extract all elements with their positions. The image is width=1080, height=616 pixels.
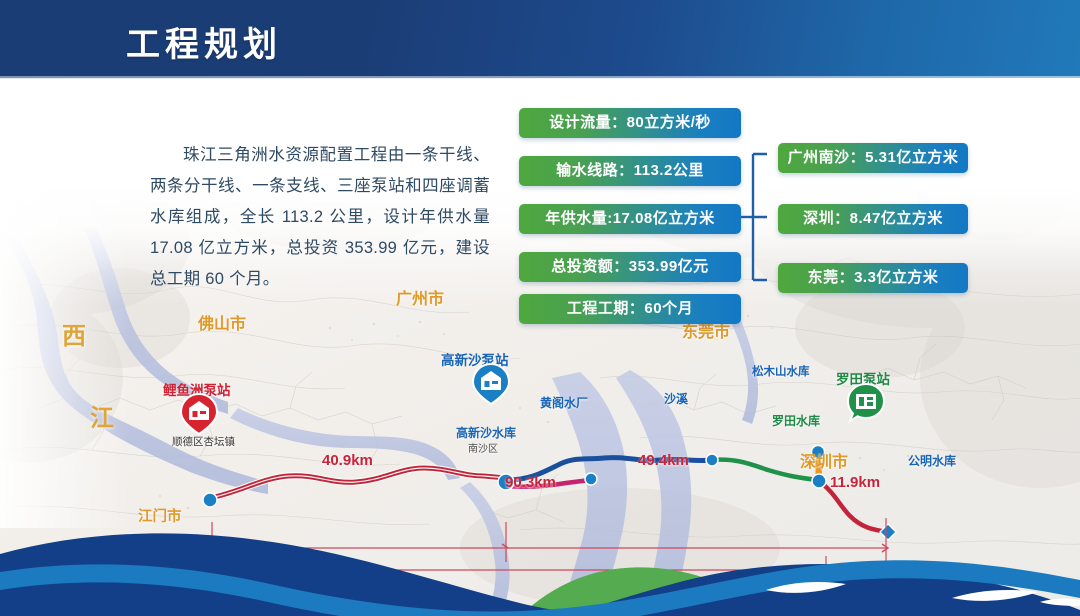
supply-box-shenzhen[interactable]: 深圳：8.47亿立方米: [778, 204, 968, 234]
distance-label-2: 49.4km: [638, 452, 689, 469]
pump-station-pin-gaoxinsha-icon[interactable]: [470, 362, 512, 406]
spec-box-total-investment[interactable]: 总投资额：353.99亿元: [519, 252, 741, 282]
node-label-luotian-reservoir: 罗田水库: [772, 412, 820, 429]
distance-label-4: 11.9km: [830, 474, 880, 491]
city-label-shenzhen: 深圳市: [800, 448, 848, 472]
intro-paragraph: 珠江三角洲水资源配置工程由一条干线、两条分干线、一条支线、三座泵站和四座调蓄水库…: [150, 140, 490, 295]
spec-box-annual-supply[interactable]: 年供水量:17.08亿立方米: [519, 204, 741, 234]
river-label-jiang: 江: [90, 398, 114, 433]
node-label-gongming: 公明水库: [908, 452, 956, 469]
header-bar: 工程规划: [0, 0, 1080, 78]
node-label-gaoxinsha-reservoir: 高新沙水库: [456, 424, 516, 441]
distance-label-3: 90.3km: [505, 474, 556, 491]
distance-label-1: 40.9km: [322, 452, 373, 469]
bracket-connector: [741, 150, 781, 284]
pump-station-pin-luotian-icon[interactable]: [845, 382, 887, 424]
slide-root: 西 江 佛山市 广州市 东莞市 深圳市 江门市 鲤鱼洲泵站 顺德区杏坛镇 高新沙…: [0, 0, 1080, 616]
pump-station-pin-liyuzhou-icon[interactable]: [178, 392, 220, 436]
header-underline: [0, 76, 1080, 79]
spec-box-duration[interactable]: 工程工期：60个月: [519, 294, 741, 324]
node-label-shaxi: 沙溪: [664, 390, 688, 407]
decorative-waves: [0, 506, 1080, 616]
spec-box-design-flow[interactable]: 设计流量：80立方米/秒: [519, 108, 741, 138]
river-label-xi: 西: [62, 316, 86, 351]
spec-box-pipeline-length[interactable]: 输水线路：113.2公里: [519, 156, 741, 186]
city-label-foshan: 佛山市: [198, 310, 246, 334]
node-label-nansha: 南沙区: [468, 440, 498, 455]
node-label-shunde-xingtan: 顺德区杏坛镇: [172, 434, 235, 449]
supply-box-dongguan[interactable]: 东莞：3.3亿立方米: [778, 263, 968, 293]
node-label-songmushan: 松木山水库: [752, 363, 810, 379]
page-title: 工程规划: [126, 17, 282, 66]
node-label-huangge: 黄阁水厂: [540, 394, 588, 411]
supply-box-guangzhou-nansha[interactable]: 广州南沙：5.31亿立方米: [778, 143, 968, 173]
